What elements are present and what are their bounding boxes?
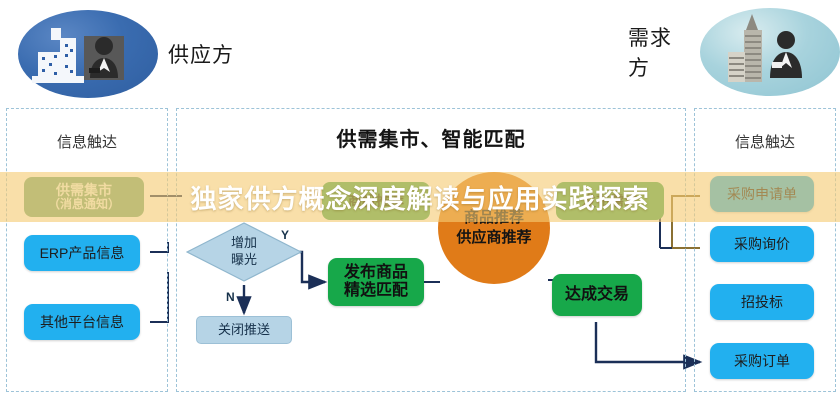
right-panel-title: 信息触达 [695,131,835,152]
node-publish-goods-match[interactable]: 发布商品 精选匹配 [328,258,424,306]
decision-label-line2: 曝光 [186,253,302,267]
node-close-push[interactable]: 关闭推送 [196,316,292,344]
center-panel-title: 供需集市、智能匹配 [177,123,685,152]
diagram-canvas: 供应方 需求方 [0,0,840,400]
building-person-icon [700,8,840,96]
branch-label-yes: Y [281,228,289,242]
node-deal-closed[interactable]: 达成交易 [552,274,642,316]
node-erp-product-info[interactable]: ERP产品信息 [24,235,140,271]
node-publish-line1: 发布商品 [344,264,408,282]
hub-label-line2: 供应商推荐 [456,228,531,248]
node-other-platform-info[interactable]: 其他平台信息 [24,304,140,340]
node-purchase-order[interactable]: 采购订单 [710,343,814,379]
overlay-banner-text: 独家供方概念深度解读与应用实践探索 [0,172,840,222]
supply-avatar [18,10,158,98]
factory-person-icon [18,10,158,98]
demand-actor: 需求方 [628,8,840,96]
left-panel-title: 信息触达 [7,131,167,152]
supply-actor: 供应方 [18,10,234,98]
demand-actor-label: 需求方 [628,22,692,82]
branch-label-no: N [226,290,235,304]
node-publish-line2: 精选匹配 [344,282,408,300]
supply-actor-label: 供应方 [168,39,234,69]
demand-avatar [700,8,840,96]
node-bidding[interactable]: 招投标 [710,284,814,320]
node-purchase-inquiry[interactable]: 采购询价 [710,226,814,262]
